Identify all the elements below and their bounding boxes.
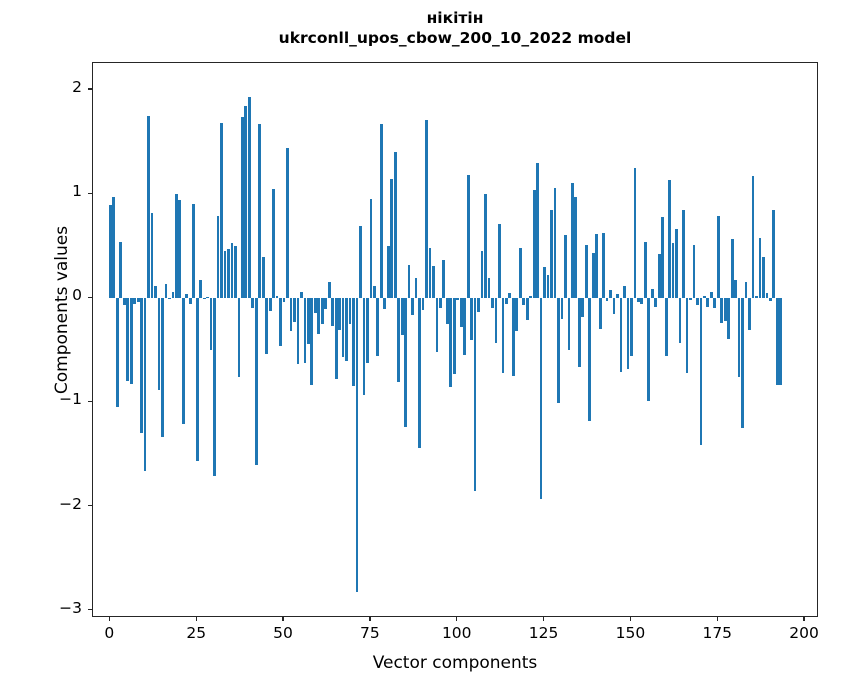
bar (724, 298, 727, 321)
bar (529, 296, 532, 298)
bar (140, 298, 143, 432)
bar (307, 298, 310, 344)
bar (564, 235, 567, 299)
bar (394, 152, 397, 299)
plot-area (92, 62, 818, 617)
bar (182, 298, 185, 424)
x-axis-label: Vector components (92, 653, 818, 673)
bar (175, 194, 178, 298)
bar (491, 298, 494, 307)
bar (522, 298, 525, 304)
bar (178, 200, 181, 298)
bar (112, 197, 115, 298)
bar (262, 257, 265, 299)
bar (759, 238, 762, 298)
bar (536, 163, 539, 298)
bar (317, 298, 320, 333)
bar (304, 298, 307, 363)
x-tick-mark (630, 617, 631, 621)
bar (359, 226, 362, 298)
bar (658, 254, 661, 299)
bar (644, 242, 647, 298)
bar (745, 282, 748, 299)
x-tick-mark (196, 617, 197, 621)
chart-title-line-1: нікітін (92, 8, 818, 28)
bar (422, 298, 425, 309)
bar (144, 298, 147, 471)
bar (408, 265, 411, 298)
bar (151, 213, 154, 298)
bar (429, 248, 432, 298)
bar (606, 298, 609, 301)
bar (772, 210, 775, 299)
bar (700, 298, 703, 445)
bar (717, 216, 720, 298)
bar (533, 190, 536, 298)
bar (706, 298, 709, 306)
bar (675, 229, 678, 299)
x-tick-label: 50 (253, 624, 313, 642)
bar (387, 246, 390, 298)
bar (647, 298, 650, 401)
bar (335, 298, 338, 378)
bar (502, 298, 505, 373)
x-tick-label: 200 (774, 624, 834, 642)
bar (238, 298, 241, 377)
bar (762, 257, 765, 299)
x-tick-label: 25 (166, 624, 226, 642)
bar (498, 224, 501, 298)
bar (741, 298, 744, 428)
bar (283, 298, 286, 302)
bar (547, 275, 550, 298)
bar (227, 249, 230, 298)
bar (720, 298, 723, 323)
bar (363, 298, 366, 395)
bar (467, 175, 470, 298)
bar (224, 251, 227, 298)
bar (161, 298, 164, 436)
bar (376, 298, 379, 355)
bar (297, 298, 300, 364)
bar (779, 298, 782, 384)
bar (481, 251, 484, 298)
bar (578, 298, 581, 367)
bar (581, 298, 584, 317)
x-tick-label: 175 (687, 624, 747, 642)
bar (696, 298, 699, 304)
bar (599, 298, 602, 328)
chart-figure: нікітін ukrconll_upos_cbow_200_10_2022 m… (0, 0, 847, 696)
bar (331, 298, 334, 326)
bar (710, 292, 713, 298)
bar (620, 298, 623, 372)
bar (640, 298, 643, 303)
bar (342, 298, 345, 356)
bar (126, 298, 129, 380)
bar (734, 280, 737, 299)
bar (251, 298, 254, 307)
y-tick-mark (88, 193, 92, 194)
bar (255, 298, 258, 465)
bar (210, 298, 213, 350)
bar (446, 298, 449, 324)
bar (752, 176, 755, 298)
bar (265, 298, 268, 353)
bar (352, 298, 355, 385)
bar (415, 278, 418, 299)
bar (293, 298, 296, 322)
bar (418, 298, 421, 448)
y-tick-mark (88, 609, 92, 610)
bar (588, 298, 591, 421)
bar (158, 298, 161, 390)
x-tick-label: 150 (600, 624, 660, 642)
bar (154, 286, 157, 298)
bar (404, 298, 407, 427)
bar (616, 294, 619, 298)
bar (123, 298, 126, 304)
bar (672, 243, 675, 298)
bar (609, 290, 612, 298)
x-tick-mark (803, 617, 804, 621)
bar (436, 298, 439, 352)
bar (515, 298, 518, 330)
bar (213, 298, 216, 476)
bar (453, 298, 456, 374)
bar (665, 298, 668, 355)
bar (474, 298, 477, 491)
bar (623, 286, 626, 298)
bar (116, 298, 119, 406)
bar (543, 267, 546, 298)
bar (508, 293, 511, 298)
bar (147, 116, 150, 298)
bar (561, 298, 564, 319)
bar (324, 298, 327, 308)
bar (300, 292, 303, 298)
bar (397, 298, 400, 381)
bar (595, 234, 598, 299)
x-tick-mark (717, 617, 718, 621)
bar (425, 120, 428, 298)
bar (310, 298, 313, 384)
bar (220, 123, 223, 298)
bar (519, 248, 522, 298)
x-tick-mark (543, 617, 544, 621)
bar (199, 280, 202, 299)
x-tick-label: 75 (340, 624, 400, 642)
bar (290, 298, 293, 330)
bar (234, 246, 237, 298)
bar (345, 298, 348, 360)
bar (172, 292, 175, 298)
bar (314, 298, 317, 313)
bar (668, 180, 671, 299)
bar (484, 194, 487, 298)
bar (366, 298, 369, 363)
bar (470, 298, 473, 340)
bar (241, 117, 244, 298)
y-tick-mark (88, 297, 92, 298)
bar (495, 298, 498, 343)
bar (526, 298, 529, 320)
bar (738, 298, 741, 377)
bar (748, 298, 751, 329)
bar (637, 298, 640, 302)
chart-title-line-2: ukrconll_upos_cbow_200_10_2022 model (92, 28, 818, 48)
y-tick-mark (88, 401, 92, 402)
bar (244, 106, 247, 299)
bar (727, 298, 730, 339)
bar (328, 282, 331, 299)
bar (713, 298, 716, 307)
y-tick-label: −2 (12, 495, 82, 513)
bar (373, 286, 376, 298)
bar (661, 217, 664, 298)
bar (602, 233, 605, 299)
x-tick-label: 125 (514, 624, 574, 642)
bar (731, 239, 734, 298)
bar (217, 216, 220, 298)
bar (269, 298, 272, 310)
bar (165, 284, 168, 299)
bar (651, 289, 654, 298)
bar (776, 298, 779, 384)
bar (356, 298, 359, 592)
bar (703, 296, 706, 298)
bar (185, 294, 188, 298)
bar (321, 298, 324, 324)
bar (231, 243, 234, 298)
bar (349, 298, 352, 324)
x-tick-mark (456, 617, 457, 621)
bar (383, 298, 386, 308)
bar (634, 168, 637, 298)
bar (119, 242, 122, 298)
bar (196, 298, 199, 460)
bar (133, 298, 136, 303)
bar (168, 298, 171, 299)
x-tick-mark (109, 617, 110, 621)
bar (456, 298, 459, 300)
bar (432, 266, 435, 298)
bar (693, 245, 696, 298)
bar (286, 148, 289, 298)
bar (338, 298, 341, 329)
y-tick-mark (88, 505, 92, 506)
bar (192, 204, 195, 299)
bar (689, 298, 692, 300)
bar (248, 97, 251, 298)
bar (585, 245, 588, 298)
bar (272, 189, 275, 298)
bar (380, 124, 383, 298)
bar (258, 124, 261, 298)
y-tick-label: 2 (12, 78, 82, 96)
bar (189, 298, 192, 303)
bar (477, 298, 480, 312)
bar (449, 298, 452, 387)
bar (130, 298, 133, 383)
bar (592, 253, 595, 299)
bar (766, 293, 769, 298)
bar (439, 298, 442, 307)
bar (568, 298, 571, 350)
bar (137, 298, 140, 302)
bar (613, 298, 616, 314)
bar (755, 296, 758, 298)
bar (206, 297, 209, 298)
bar (654, 298, 657, 306)
bar (488, 278, 491, 299)
x-tick-label: 0 (79, 624, 139, 642)
y-tick-mark (88, 88, 92, 89)
bar (679, 298, 682, 343)
bar (463, 298, 466, 354)
bar (630, 298, 633, 355)
bar (512, 298, 515, 376)
x-tick-label: 100 (427, 624, 487, 642)
bar (390, 179, 393, 299)
bar (769, 298, 772, 301)
bar (574, 197, 577, 298)
bar (627, 298, 630, 369)
bar (203, 298, 206, 299)
bar (401, 298, 404, 334)
bar (109, 205, 112, 299)
bar (276, 296, 279, 298)
bar-series (93, 63, 817, 616)
bar (686, 298, 689, 373)
chart-title: нікітін ukrconll_upos_cbow_200_10_2022 m… (92, 8, 818, 48)
bar (540, 298, 543, 499)
bar (411, 298, 414, 315)
x-tick-mark (282, 617, 283, 621)
bar (571, 183, 574, 299)
y-tick-label: −3 (12, 599, 82, 617)
bar (370, 199, 373, 298)
bar (554, 188, 557, 298)
y-axis-label: Components values (52, 130, 72, 490)
bar (460, 298, 463, 327)
bar (550, 210, 553, 299)
bar (682, 210, 685, 299)
x-tick-mark (369, 617, 370, 621)
bar (557, 298, 560, 403)
bar (505, 298, 508, 303)
bar (442, 260, 445, 299)
bar (279, 298, 282, 346)
